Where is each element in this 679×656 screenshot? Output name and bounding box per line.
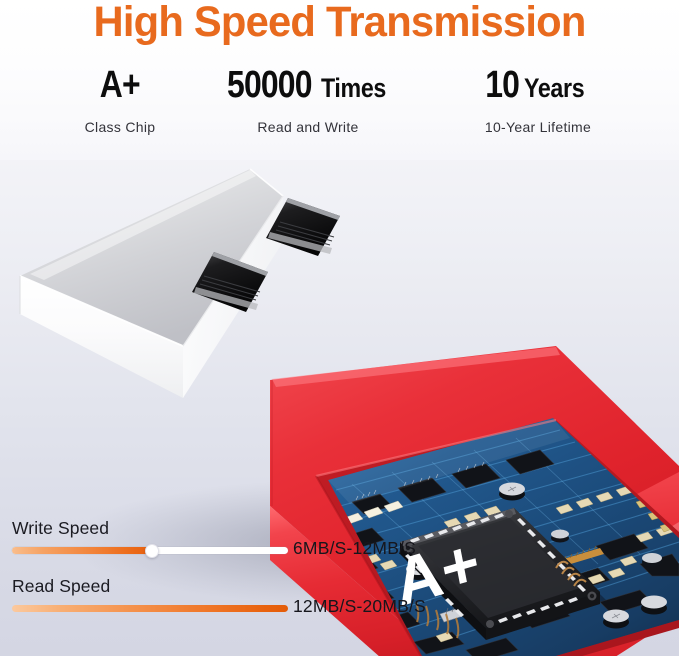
stat-unit: Times — [321, 75, 386, 102]
capacitor — [642, 553, 662, 567]
read-speed-label: Read Speed — [12, 576, 110, 597]
capacitor — [551, 530, 569, 543]
stat-unit: Years — [524, 75, 584, 102]
stat-caption: Read and Write — [218, 119, 398, 135]
write-speed-knob[interactable] — [145, 544, 159, 558]
capacitor — [603, 610, 629, 629]
stat-read-write-cycles: 50000Times Read and Write — [218, 66, 398, 135]
stat-caption: Class Chip — [52, 119, 188, 135]
header: High Speed Transmission A+ Class Chip 50… — [0, 0, 679, 160]
product-banner: A+ — [0, 0, 679, 656]
stat-lifetime: 10Years 10-Year Lifetime — [452, 66, 624, 135]
stat-class-chip: A+ Class Chip — [52, 66, 188, 135]
stat-caption: 10-Year Lifetime — [452, 119, 624, 135]
capacitor — [499, 483, 525, 501]
stat-number: 10 — [486, 66, 520, 104]
read-speed-value: 12MB/S-20MB/S — [293, 596, 426, 617]
read-speed-slider[interactable] — [12, 605, 288, 612]
write-speed-slider[interactable] — [12, 547, 288, 554]
stat-value: 50000Times — [218, 66, 398, 104]
stat-value: 10Years — [452, 66, 624, 104]
page-title: High Speed Transmission — [10, 0, 669, 47]
speed-specs: Write Speed 6MB/S-12MB/S Read Speed 12MB… — [0, 518, 460, 638]
stat-number: 50000 — [227, 66, 312, 104]
write-speed-fill — [12, 547, 153, 554]
stat-number: A+ — [99, 66, 139, 104]
read-speed-fill — [12, 605, 288, 612]
capacitor — [641, 596, 667, 615]
write-speed-label: Write Speed — [12, 518, 109, 539]
write-speed-value: 6MB/S-12MB/S — [293, 538, 416, 559]
usb-connector — [18, 164, 340, 398]
stat-value: A+ — [52, 66, 188, 104]
